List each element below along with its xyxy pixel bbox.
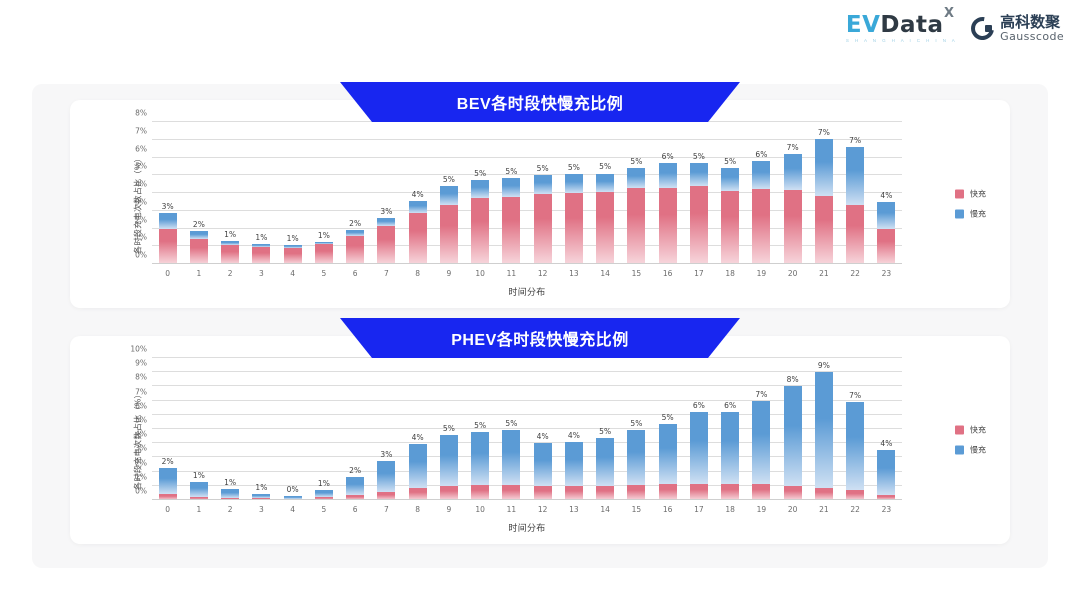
bar-value-label: 1%: [224, 230, 236, 239]
stacked-bar[interactable]: 5%: [627, 430, 645, 500]
stacked-bar[interactable]: 1%: [284, 245, 302, 264]
y-axis-tick-label: 3%: [135, 197, 147, 206]
stacked-bar[interactable]: 7%: [815, 139, 833, 264]
bar-segment-fast: [284, 248, 302, 264]
stacked-bar[interactable]: 7%: [784, 154, 802, 264]
bar-slot: 1%: [277, 122, 308, 264]
bar-segment-fast: [190, 239, 208, 264]
stacked-bar[interactable]: 5%: [502, 178, 520, 264]
stacked-bar[interactable]: 2%: [159, 468, 177, 500]
legend-item-slow[interactable]: 慢充: [955, 445, 986, 456]
content-panel: BEV各时段快慢充比例 各时段充电次数占比（%） 0%1%2%3%4%5%6%7…: [32, 84, 1048, 568]
x-axis-tick-label: 3: [246, 505, 277, 514]
bar-segment-slow: [471, 180, 489, 199]
bar-slot: 3%: [152, 122, 183, 264]
x-axis-tick-label: 16: [652, 269, 683, 278]
bar-slot: 7%: [746, 358, 777, 500]
stacked-bar[interactable]: 4%: [877, 202, 895, 264]
bar-slot: 7%: [777, 122, 808, 264]
chart-bev-plot: 0%1%2%3%4%5%6%7%8% 3%2%1%1%1%1%2%3%4%5%5…: [152, 122, 902, 264]
bar-slot: 3%: [371, 358, 402, 500]
y-axis-tick-label: 2%: [135, 458, 147, 467]
bar-segment-fast: [221, 245, 239, 264]
y-axis-tick-label: 3%: [135, 444, 147, 453]
bar-segment-slow: [690, 163, 708, 186]
x-axis-tick-label: 21: [808, 505, 839, 514]
bar-segment-fast: [409, 213, 427, 264]
stacked-bar[interactable]: 5%: [627, 168, 645, 264]
bar-slot: 5%: [652, 358, 683, 500]
bar-segment-fast: [502, 197, 520, 264]
chart-phev-axis: [152, 499, 902, 500]
bar-value-label: 7%: [849, 391, 861, 400]
x-axis-tick-label: 8: [402, 505, 433, 514]
gausscode-dot-icon: [985, 25, 992, 32]
x-axis-tick-label: 1: [183, 269, 214, 278]
bar-segment-fast: [534, 194, 552, 264]
stacked-bar[interactable]: 1%: [315, 242, 333, 264]
stacked-bar[interactable]: 7%: [846, 402, 864, 500]
chart-bev-axis: [152, 263, 902, 264]
bar-slot: 5%: [433, 122, 464, 264]
chart-bev-bars: 3%2%1%1%1%1%2%3%4%5%5%5%5%5%5%5%6%5%5%6%…: [152, 122, 902, 264]
bar-segment-slow: [377, 461, 395, 492]
bar-slot: 7%: [840, 358, 871, 500]
stacked-bar[interactable]: 5%: [440, 435, 458, 500]
bar-slot: 6%: [746, 122, 777, 264]
bar-value-label: 5%: [568, 163, 580, 172]
bar-slot: 5%: [715, 122, 746, 264]
chart-phev-legend: 快充 慢充: [955, 425, 986, 456]
bar-segment-fast: [565, 486, 583, 500]
x-axis-tick-label: 18: [715, 269, 746, 278]
stacked-bar[interactable]: 5%: [596, 438, 614, 500]
legend-item-slow[interactable]: 慢充: [955, 209, 986, 220]
evdata-wordmark: EVDataX: [846, 14, 944, 37]
x-axis-tick-label: 4: [277, 505, 308, 514]
bar-segment-fast: [690, 484, 708, 500]
bar-segment-slow: [565, 442, 583, 486]
stacked-bar[interactable]: 3%: [159, 213, 177, 264]
bar-slot: 1%: [308, 122, 339, 264]
y-axis-tick-label: 0%: [135, 251, 147, 260]
bar-value-label: 3%: [380, 450, 392, 459]
x-axis-tick-label: 13: [558, 269, 589, 278]
bar-segment-slow: [440, 435, 458, 486]
bar-segment-slow: [377, 218, 395, 226]
bar-value-label: 5%: [505, 167, 517, 176]
x-axis-tick-label: 14: [590, 269, 621, 278]
gausscode-ring-icon: [967, 13, 999, 45]
bar-segment-slow: [534, 443, 552, 486]
bar-segment-slow: [346, 477, 364, 495]
bar-segment-fast: [721, 191, 739, 264]
stacked-bar[interactable]: 6%: [690, 412, 708, 500]
stacked-bar[interactable]: 4%: [565, 442, 583, 500]
x-axis-tick-label: 11: [496, 269, 527, 278]
x-axis-tick-label: 2: [215, 269, 246, 278]
bar-segment-fast: [565, 193, 583, 264]
bar-value-label: 1%: [193, 471, 205, 480]
bar-value-label: 5%: [474, 421, 486, 430]
stacked-bar[interactable]: 1%: [221, 241, 239, 264]
bar-segment-slow: [659, 424, 677, 484]
bar-value-label: 5%: [505, 419, 517, 428]
x-axis-tick-label: 0: [152, 505, 183, 514]
stacked-bar[interactable]: 7%: [752, 401, 770, 500]
bar-segment-slow: [877, 450, 895, 495]
x-axis-tick-label: 21: [808, 269, 839, 278]
x-axis-tick-label: 17: [683, 505, 714, 514]
bar-slot: 4%: [871, 358, 902, 500]
bar-segment-slow: [627, 168, 645, 188]
bar-value-label: 5%: [599, 162, 611, 171]
bar-segment-fast: [784, 486, 802, 500]
bar-segment-slow: [190, 482, 208, 497]
x-axis-tick-label: 3: [246, 269, 277, 278]
bar-segment-fast: [596, 486, 614, 500]
x-axis-tick-label: 9: [433, 269, 464, 278]
bar-value-label: 4%: [412, 190, 424, 199]
bar-value-label: 2%: [349, 219, 361, 228]
bar-segment-slow: [721, 168, 739, 191]
x-axis-tick-label: 5: [308, 505, 339, 514]
bar-slot: 1%: [308, 358, 339, 500]
stacked-bar[interactable]: 4%: [534, 443, 552, 501]
bar-value-label: 5%: [693, 152, 705, 161]
y-axis-tick-label: 7%: [135, 387, 147, 396]
bar-segment-slow: [440, 186, 458, 205]
x-axis-tick-label: 23: [871, 505, 902, 514]
stacked-bar[interactable]: 5%: [565, 174, 583, 264]
bar-value-label: 2%: [162, 457, 174, 466]
bar-segment-fast: [346, 236, 364, 264]
evdata-x-superscript-icon: X: [944, 7, 955, 20]
bar-value-label: 5%: [537, 164, 549, 173]
bar-segment-slow: [502, 178, 520, 197]
bar-segment-fast: [659, 484, 677, 500]
gausscode-en-text: Gausscode: [1000, 31, 1064, 43]
bar-segment-fast: [377, 226, 395, 264]
bar-value-label: 5%: [443, 175, 455, 184]
chart-phev: 各时段充电次数占比（%） 0%1%2%3%4%5%6%7%8%9%10% 2%1…: [70, 336, 1010, 544]
bar-value-label: 6%: [662, 152, 674, 161]
bar-slot: 1%: [215, 122, 246, 264]
y-axis-tick-label: 5%: [135, 162, 147, 171]
bar-segment-fast: [159, 229, 177, 264]
stacked-bar[interactable]: 4%: [409, 444, 427, 500]
y-axis-tick-label: 8%: [135, 109, 147, 118]
gausscode-cn-text: 高科数聚: [1000, 15, 1064, 31]
stacked-bar[interactable]: 5%: [721, 168, 739, 264]
bar-slot: 1%: [246, 122, 277, 264]
bar-segment-fast: [627, 485, 645, 500]
bar-value-label: 3%: [380, 207, 392, 216]
bar-segment-fast: [471, 198, 489, 264]
bar-segment-fast: [815, 196, 833, 264]
legend-item-fast[interactable]: 快充: [955, 189, 986, 200]
legend-swatch-fast-icon: [955, 190, 964, 199]
bar-value-label: 6%: [755, 150, 767, 159]
chart-phev-plot: 0%1%2%3%4%5%6%7%8%9%10% 2%1%1%1%0%1%2%3%…: [152, 358, 902, 500]
bar-slot: 5%: [527, 122, 558, 264]
stacked-bar[interactable]: 5%: [471, 432, 489, 500]
chart-bev: 各时段充电次数占比（%） 0%1%2%3%4%5%6%7%8% 3%2%1%1%…: [70, 100, 1010, 308]
bar-segment-fast: [471, 485, 489, 500]
chart-phev-xlabel: 时间分布: [152, 521, 902, 534]
stacked-bar[interactable]: 3%: [377, 461, 395, 500]
bar-segment-fast: [752, 484, 770, 500]
legend-item-fast[interactable]: 快充: [955, 425, 986, 436]
evdata-tagline: S H A N G H A I C H I N A: [846, 39, 957, 44]
x-axis-tick-label: 6: [340, 505, 371, 514]
bar-segment-slow: [690, 412, 708, 484]
stacked-bar[interactable]: 5%: [690, 163, 708, 264]
banner-bev: BEV各时段快慢充比例: [340, 82, 740, 122]
bar-segment-fast: [784, 190, 802, 264]
x-axis-tick-label: 18: [715, 505, 746, 514]
bar-segment-fast: [252, 247, 270, 264]
bar-segment-fast: [752, 189, 770, 264]
bar-value-label: 4%: [412, 433, 424, 442]
chart-phev-bars: 2%1%1%1%0%1%2%3%4%5%5%5%4%4%5%5%5%6%6%7%…: [152, 358, 902, 500]
bar-segment-fast: [534, 486, 552, 500]
bar-value-label: 4%: [537, 432, 549, 441]
bar-slot: 8%: [777, 358, 808, 500]
stacked-bar[interactable]: 5%: [534, 175, 552, 264]
bar-segment-slow: [315, 490, 333, 497]
bar-segment-slow: [596, 174, 614, 193]
y-axis-tick-label: 0%: [135, 487, 147, 496]
bar-slot: 0%: [277, 358, 308, 500]
stacked-bar[interactable]: 1%: [252, 244, 270, 264]
x-axis-tick-label: 7: [371, 269, 402, 278]
x-axis-tick-label: 6: [340, 269, 371, 278]
bar-segment-slow: [784, 154, 802, 190]
x-axis-tick-label: 9: [433, 505, 464, 514]
logo-group: EVDataX S H A N G H A I C H I N A 高科数聚 G…: [846, 14, 1064, 44]
bar-segment-slow: [846, 402, 864, 490]
bar-segment-slow: [190, 231, 208, 239]
x-axis-tick-label: 17: [683, 269, 714, 278]
bar-segment-slow: [815, 372, 833, 488]
stacked-bar[interactable]: 1%: [190, 482, 208, 500]
bar-value-label: 6%: [724, 401, 736, 410]
stacked-bar[interactable]: 5%: [659, 424, 677, 500]
stacked-bar[interactable]: 5%: [440, 186, 458, 264]
bar-slot: 6%: [683, 358, 714, 500]
bar-segment-fast: [659, 188, 677, 264]
y-axis-tick-label: 4%: [135, 180, 147, 189]
x-axis-tick-label: 0: [152, 269, 183, 278]
bar-segment-fast: [721, 484, 739, 500]
y-axis-tick-label: 6%: [135, 401, 147, 410]
stacked-bar[interactable]: 2%: [346, 230, 364, 264]
stacked-bar[interactable]: 7%: [846, 147, 864, 264]
chart-bev-xticks: 01234567891011121314151617181920212223: [152, 269, 902, 278]
bar-segment-slow: [409, 201, 427, 213]
bar-segment-fast: [627, 188, 645, 264]
bar-value-label: 2%: [193, 220, 205, 229]
bar-value-label: 7%: [849, 136, 861, 145]
chart-phev-xticks: 01234567891011121314151617181920212223: [152, 505, 902, 514]
banner-phev-title: PHEV各时段快慢充比例: [451, 326, 629, 350]
legend-swatch-slow-icon: [955, 210, 964, 219]
bar-slot: 6%: [715, 358, 746, 500]
bar-slot: 5%: [558, 122, 589, 264]
stacked-bar[interactable]: 2%: [190, 231, 208, 264]
stacked-bar[interactable]: 9%: [815, 372, 833, 500]
bar-segment-slow: [627, 430, 645, 485]
x-axis-tick-label: 20: [777, 269, 808, 278]
bar-slot: 4%: [558, 358, 589, 500]
bar-slot: 3%: [371, 122, 402, 264]
bar-value-label: 1%: [255, 233, 267, 242]
bar-slot: 1%: [246, 358, 277, 500]
bar-value-label: 5%: [724, 157, 736, 166]
y-axis-tick-label: 1%: [135, 233, 147, 242]
bar-segment-slow: [752, 161, 770, 189]
bar-slot: 2%: [340, 122, 371, 264]
bar-value-label: 1%: [287, 234, 299, 243]
y-axis-tick-label: 9%: [135, 359, 147, 368]
x-axis-tick-label: 10: [465, 269, 496, 278]
stacked-bar[interactable]: 6%: [752, 161, 770, 264]
y-axis-tick-label: 10%: [130, 345, 147, 354]
bar-value-label: 5%: [630, 419, 642, 428]
stacked-bar[interactable]: 5%: [502, 430, 520, 500]
bar-segment-fast: [440, 205, 458, 264]
x-axis-tick-label: 8: [402, 269, 433, 278]
y-axis-tick-label: 2%: [135, 215, 147, 224]
x-axis-tick-label: 13: [558, 505, 589, 514]
bar-segment-fast: [502, 485, 520, 500]
y-axis-tick-label: 6%: [135, 144, 147, 153]
bar-value-label: 1%: [255, 483, 267, 492]
bar-value-label: 6%: [693, 401, 705, 410]
bar-value-label: 7%: [755, 390, 767, 399]
bar-value-label: 8%: [787, 375, 799, 384]
legend-label-slow: 慢充: [970, 209, 986, 220]
bar-slot: 5%: [496, 122, 527, 264]
legend-label-fast: 快充: [970, 425, 986, 436]
bar-segment-slow: [471, 432, 489, 485]
bar-segment-slow: [159, 213, 177, 230]
x-axis-tick-label: 5: [308, 269, 339, 278]
stacked-bar[interactable]: 6%: [721, 412, 739, 500]
bar-slot: 7%: [808, 122, 839, 264]
bar-slot: 5%: [621, 122, 652, 264]
bar-value-label: 0%: [287, 485, 299, 494]
bar-slot: 5%: [496, 358, 527, 500]
bar-value-label: 5%: [443, 424, 455, 433]
x-axis-tick-label: 7: [371, 505, 402, 514]
bar-value-label: 1%: [318, 479, 330, 488]
bar-segment-slow: [502, 430, 520, 485]
bar-slot: 4%: [402, 358, 433, 500]
bar-segment-slow: [534, 175, 552, 194]
stacked-bar[interactable]: 3%: [377, 218, 395, 264]
x-axis-tick-label: 19: [746, 269, 777, 278]
page-header: EVDataX S H A N G H A I C H I N A 高科数聚 G…: [0, 0, 1080, 62]
stacked-bar[interactable]: 2%: [346, 477, 364, 500]
evdata-ev-text: EV: [846, 12, 881, 38]
legend-swatch-fast-icon: [955, 426, 964, 435]
bar-segment-slow: [721, 412, 739, 484]
gausscode-wordmark: 高科数聚 Gausscode: [1000, 15, 1064, 42]
bar-slot: 2%: [183, 122, 214, 264]
legend-swatch-slow-icon: [955, 446, 964, 455]
y-axis-tick-label: 5%: [135, 416, 147, 425]
bar-value-label: 5%: [599, 427, 611, 436]
bar-segment-slow: [659, 163, 677, 188]
bar-value-label: 7%: [787, 143, 799, 152]
evdata-data-text: Data: [880, 12, 943, 38]
bar-value-label: 4%: [880, 439, 892, 448]
bar-value-label: 3%: [162, 202, 174, 211]
bar-slot: 4%: [871, 122, 902, 264]
bar-slot: 5%: [621, 358, 652, 500]
y-axis-tick-label: 7%: [135, 126, 147, 135]
bar-segment-slow: [877, 202, 895, 230]
x-axis-tick-label: 10: [465, 505, 496, 514]
stacked-bar[interactable]: 8%: [784, 386, 802, 500]
bar-slot: 5%: [683, 122, 714, 264]
y-axis-tick-label: 8%: [135, 373, 147, 382]
bar-segment-slow: [159, 468, 177, 494]
bar-slot: 5%: [465, 122, 496, 264]
stacked-bar[interactable]: 5%: [596, 173, 614, 264]
banner-bev-title: BEV各时段快慢充比例: [457, 90, 623, 114]
bar-segment-slow: [815, 139, 833, 196]
bar-segment-fast: [315, 244, 333, 264]
bar-segment-slow: [784, 386, 802, 485]
bar-slot: 7%: [840, 122, 871, 264]
gausscode-logo: 高科数聚 Gausscode: [971, 15, 1064, 42]
evdata-logo: EVDataX S H A N G H A I C H I N A: [846, 14, 957, 44]
chart-bev-legend: 快充 慢充: [955, 189, 986, 220]
x-axis-tick-label: 12: [527, 269, 558, 278]
stacked-bar[interactable]: 5%: [471, 180, 489, 264]
bar-value-label: 4%: [880, 191, 892, 200]
stacked-bar[interactable]: 4%: [409, 201, 427, 264]
bar-slot: 2%: [340, 358, 371, 500]
stacked-bar[interactable]: 4%: [877, 450, 895, 500]
x-axis-tick-label: 16: [652, 505, 683, 514]
bar-slot: 9%: [808, 358, 839, 500]
bar-segment-fast: [846, 205, 864, 264]
bar-segment-slow: [846, 147, 864, 206]
chart-card-bev: 各时段充电次数占比（%） 0%1%2%3%4%5%6%7%8% 3%2%1%1%…: [70, 100, 1010, 308]
bar-value-label: 7%: [818, 128, 830, 137]
x-axis-tick-label: 15: [621, 505, 652, 514]
x-axis-tick-label: 12: [527, 505, 558, 514]
stacked-bar[interactable]: 6%: [659, 163, 677, 264]
bar-segment-slow: [752, 401, 770, 485]
bar-value-label: 2%: [349, 466, 361, 475]
x-axis-tick-label: 22: [840, 269, 871, 278]
bar-slot: 4%: [527, 358, 558, 500]
x-axis-tick-label: 11: [496, 505, 527, 514]
y-axis-tick-label: 4%: [135, 430, 147, 439]
bar-value-label: 5%: [662, 413, 674, 422]
bar-segment-fast: [596, 192, 614, 264]
bar-value-label: 5%: [474, 169, 486, 178]
bar-segment-slow: [565, 174, 583, 193]
x-axis-tick-label: 4: [277, 269, 308, 278]
bar-slot: 2%: [152, 358, 183, 500]
bar-segment-slow: [596, 438, 614, 486]
